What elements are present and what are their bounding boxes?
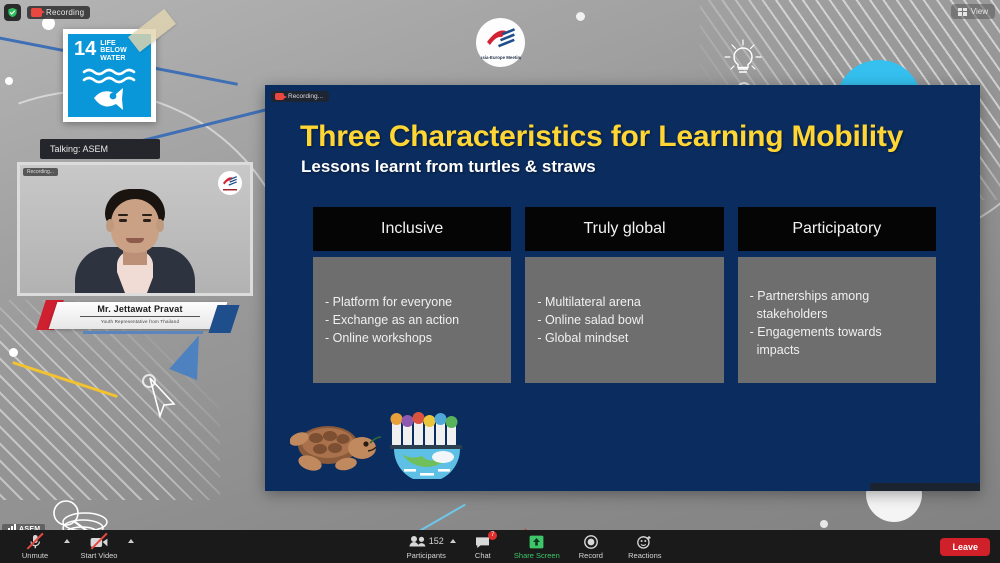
record-label: Record <box>579 551 603 560</box>
list-item: - Online workshops <box>325 329 499 347</box>
participants-icon: 152 <box>409 534 444 549</box>
meeting-toolbar: Unmute Start Video <box>0 530 1000 563</box>
speaker-nameplate: Mr. Jettawat Pravat Youth Representative… <box>17 298 253 336</box>
nameplate-bottom-bar <box>83 331 203 334</box>
meeting-status-indicators: Recording <box>4 4 90 21</box>
video-feed <box>20 165 250 293</box>
asem-logo-icon: Asia-Europe Meeting <box>476 18 525 67</box>
participants-label: Participants <box>407 551 446 560</box>
slide-title: Three Characteristics for Learning Mobil… <box>300 120 960 154</box>
microphone-muted-icon <box>28 534 42 549</box>
column-heading: Participatory <box>738 207 936 251</box>
record-camera-icon <box>31 8 42 17</box>
list-item: - Global mindset <box>537 329 711 347</box>
start-video-button[interactable]: Start Video <box>72 534 126 560</box>
lightbulb-icon <box>722 36 764 82</box>
dot-decoration <box>9 348 18 357</box>
asem-watermark-icon <box>218 171 242 195</box>
reactions-icon <box>637 534 652 549</box>
turtle-illustration <box>290 415 382 477</box>
column-body: - Multilateral arena - Online salad bowl… <box>525 257 723 383</box>
column-heading: Inclusive <box>313 207 511 251</box>
slide-bottom-bar <box>870 483 980 491</box>
speaker-role: Youth Representative from Thailand <box>65 319 215 324</box>
share-screen-icon <box>529 534 544 549</box>
list-item: - Exchange as an action <box>325 311 499 329</box>
dot-decoration <box>820 520 828 528</box>
list-item: - Engagements towards impacts <box>750 323 924 359</box>
share-screen-label: Share Screen <box>514 551 560 560</box>
list-item: - Online salad bowl <box>537 311 711 329</box>
grid-view-icon <box>958 8 967 16</box>
recording-indicator[interactable]: Recording <box>27 6 90 19</box>
start-video-label: Start Video <box>81 551 118 560</box>
unmute-label: Unmute <box>22 551 48 560</box>
globe-with-people-illustration <box>388 407 466 479</box>
slide-column-truly-global: Truly global - Multilateral arena - Onli… <box>525 207 723 383</box>
chat-icon: 7 <box>475 534 490 549</box>
speaker-video-tile[interactable]: Recording... <box>17 162 253 296</box>
participant-count: 152 <box>429 536 444 546</box>
cursor-arrow-icon <box>140 374 186 420</box>
chat-button[interactable]: 7 Chat <box>456 534 510 560</box>
column-body: - Platform for everyone - Exchange as an… <box>313 257 511 383</box>
yellow-line-decoration <box>12 361 118 398</box>
video-camera-off-icon <box>90 534 108 549</box>
recording-label: Recording <box>46 8 84 17</box>
blue-triangle-decoration <box>169 330 213 380</box>
view-label: View <box>971 7 988 16</box>
record-camera-icon <box>275 93 284 100</box>
slide-recording-label: Recording... <box>288 93 323 100</box>
dot-decoration <box>576 12 585 21</box>
slide-recording-indicator: Recording... <box>271 91 329 102</box>
life-below-water-icon <box>74 62 145 117</box>
share-screen-button[interactable]: Share Screen <box>510 534 564 560</box>
shared-screen-slide[interactable]: Recording... Three Characteristics for L… <box>265 85 980 491</box>
svg-text:Asia-Europe Meeting: Asia-Europe Meeting <box>481 55 521 60</box>
view-button[interactable]: View <box>951 4 995 19</box>
record-button[interactable]: Record <box>564 534 618 560</box>
speaker-name: Mr. Jettawat Pravat <box>65 304 215 314</box>
audio-options-chevron-icon[interactable] <box>64 539 70 543</box>
chat-label: Chat <box>475 551 491 560</box>
column-heading: Truly global <box>525 207 723 251</box>
list-item: - Platform for everyone <box>325 293 499 311</box>
talking-indicator: Talking: ASEM <box>40 139 160 159</box>
record-icon <box>584 534 598 549</box>
reactions-button[interactable]: Reactions <box>618 534 672 560</box>
slide-columns: Inclusive - Platform for everyone - Exch… <box>313 207 936 383</box>
sdg-14-card: 14 LIFE BELOW WATER <box>63 29 156 122</box>
encryption-shield-icon[interactable] <box>4 4 21 21</box>
spiral-decoration <box>50 508 120 530</box>
cyan-line-decoration <box>404 504 466 530</box>
list-item: - Partnerships among stakeholders <box>750 287 924 323</box>
speaker-avatar <box>69 189 201 293</box>
list-item: - Multilateral arena <box>537 293 711 311</box>
tile-recording-label: Recording... <box>23 168 58 176</box>
sdg-number: 14 <box>74 40 96 58</box>
nameplate-divider <box>80 316 200 317</box>
chat-unread-badge: 7 <box>488 531 497 540</box>
participants-button[interactable]: 152 Participants <box>403 534 446 560</box>
leave-button[interactable]: Leave <box>940 538 990 556</box>
ring-decoration <box>142 374 156 388</box>
slide-column-inclusive: Inclusive - Platform for everyone - Exch… <box>313 207 511 383</box>
column-body: - Partnerships among stakeholders - Enga… <box>738 257 936 383</box>
slide-column-participatory: Participatory - Partnerships among stake… <box>738 207 936 383</box>
reactions-label: Reactions <box>628 551 661 560</box>
magnifier-icon <box>46 497 100 530</box>
unmute-button[interactable]: Unmute <box>8 534 62 560</box>
slide-artwork <box>290 407 470 479</box>
slide-subtitle: Lessons learnt from turtles & straws <box>301 157 596 177</box>
dot-decoration <box>5 77 13 85</box>
